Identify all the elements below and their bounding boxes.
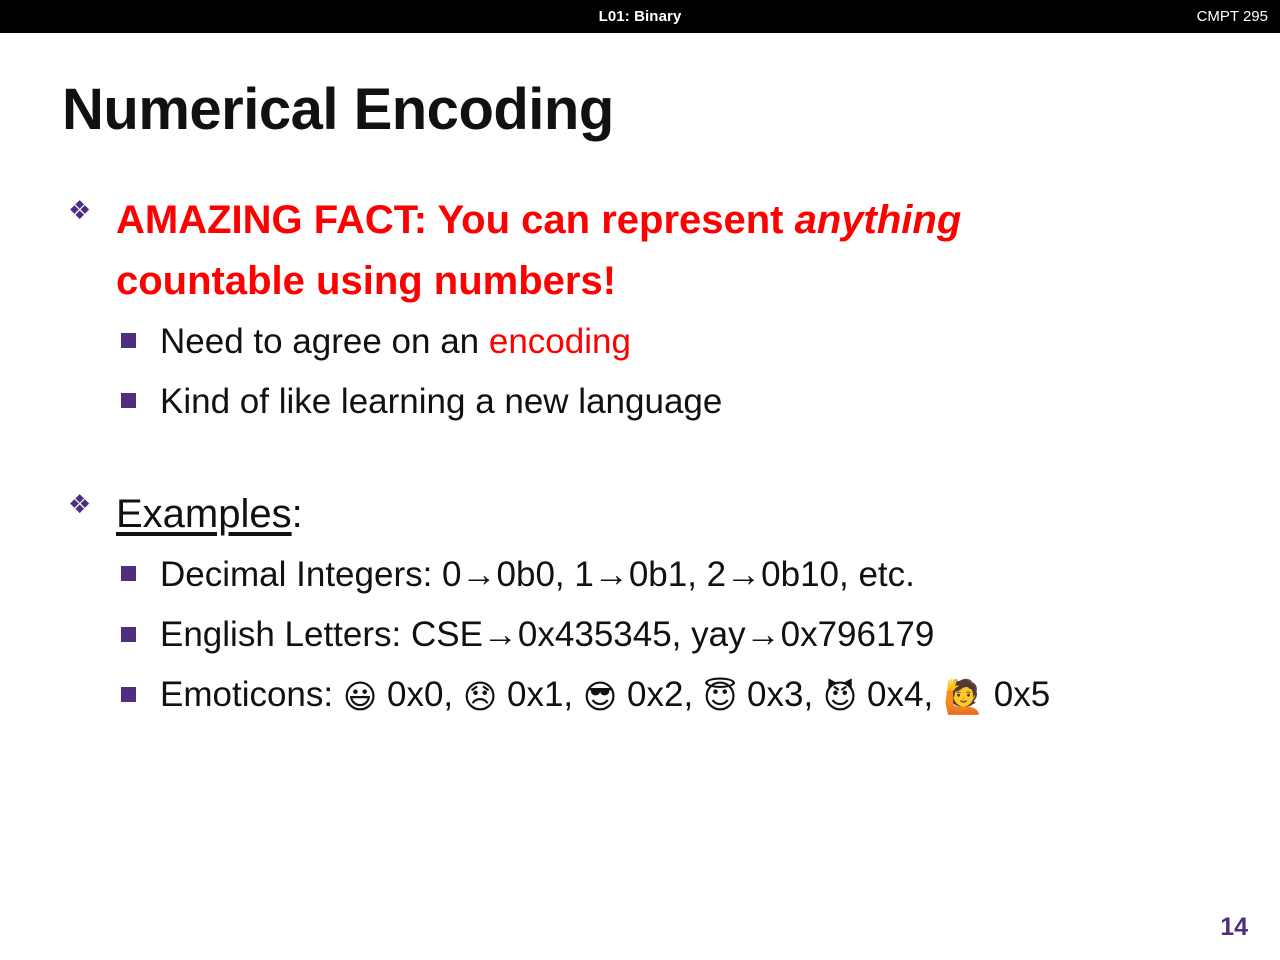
square-bullet-icon [121,566,136,581]
body-spacer [0,432,1280,484]
devil-face-emoji: 😈 [823,677,857,716]
new-language-text: Kind of like learning a new language [160,382,722,421]
sunglasses-face-emoji: 😎 [583,677,617,716]
encoding-highlight: encoding [489,322,631,361]
page-number: 14 [1220,913,1248,942]
page-title: Numerical Encoding [62,80,614,141]
emoticon-code: 0x3, [737,675,823,714]
bullet-examples-heading: ❖ Examples: [0,484,1280,545]
slide-body: ❖ AMAZING FACT: You can represent anythi… [0,190,1280,726]
fact-part1: AMAZING FACT: You can represent [116,198,795,242]
examples-colon: : [292,492,303,536]
header-lecture-title: L01: Binary [0,0,1280,33]
example-decimal-text: Decimal Integers: 0→0b0, 1→0b1, 2→0b10, … [160,555,915,594]
emoticon-pair-list: 😃 0x0, 😞 0x1, 😎 0x2, 😇 0x3, 😈 0x4, 🙋 0x5 [343,675,1050,714]
bullet-amazing-fact-text: AMAZING FACT: You can represent anything… [116,190,1076,312]
disappointed-face-emoji: 😞 [463,677,497,716]
example-emoticons-label: Emoticons: [160,675,343,714]
bullet-amazing-fact: ❖ AMAZING FACT: You can represent anythi… [0,190,1280,312]
square-bullet-icon [121,687,136,702]
emoticon-code: 0x4, [857,675,943,714]
slide-canvas: L01: Binary CMPT 295 Numerical Encoding … [0,0,1280,960]
bullet-example-letters: English Letters: CSE→0x435345, yay→0x796… [0,605,1280,665]
square-bullet-icon [121,393,136,408]
bullet-new-language: Kind of like learning a new language [0,372,1280,432]
grinning-face-emoji: 😃 [343,677,377,716]
person-raising-hand-emoji: 🙋 [943,677,984,716]
example-letters-text: English Letters: CSE→0x435345, yay→0x796… [160,615,934,654]
need-encoding-text: Need to agree on an [160,322,489,361]
bullet-example-emoticons: Emoticons: 😃 0x0, 😞 0x1, 😎 0x2, 😇 0x3, 😈… [0,665,1280,726]
halo-face-emoji: 😇 [703,677,737,716]
emoticon-code: 0x0, [377,675,463,714]
square-bullet-icon [121,627,136,642]
emoticon-code: 0x2, [617,675,703,714]
emoticon-code: 0x1, [497,675,583,714]
bullet-example-decimal: Decimal Integers: 0→0b0, 1→0b1, 2→0b10, … [0,545,1280,605]
examples-heading-text: Examples: [116,484,1076,545]
bullet-need-encoding: Need to agree on an encoding [0,312,1280,372]
fact-part2: countable using numbers! [116,259,616,303]
header-course-code: CMPT 295 [1197,0,1268,33]
emoticon-code: 0x5 [984,675,1050,714]
fact-emphasis: anything [795,198,962,242]
square-bullet-icon [121,333,136,348]
diamond-bullet-icon: ❖ [68,198,91,224]
examples-word: Examples [116,492,292,536]
diamond-bullet-icon: ❖ [68,492,91,518]
